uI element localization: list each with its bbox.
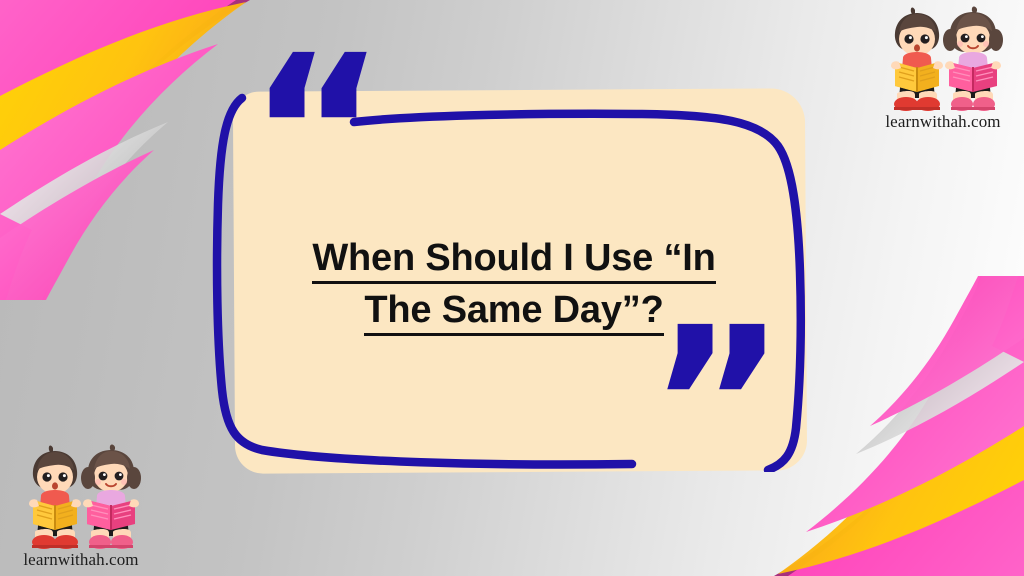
- two-children-reading-books-icon: [15, 444, 147, 552]
- quote-title-line-1: When Should I Use “In: [244, 232, 784, 284]
- quote-title-line-2: The Same Day”?: [244, 284, 784, 336]
- logo-bottom-left[interactable]: learnwithah.com: [8, 444, 154, 570]
- quote-title: When Should I Use “In The Same Day”?: [244, 232, 784, 337]
- two-children-reading-books-icon: [877, 6, 1009, 114]
- quote-title-question-mark: ?: [641, 289, 664, 336]
- slide-canvas: “ ” When Should I Use “In The Same Day”?: [0, 0, 1024, 576]
- logo-text-top-right: learnwithah.com: [870, 112, 1016, 132]
- opening-quote-mark: “: [248, 28, 380, 238]
- logo-text-bottom-left: learnwithah.com: [8, 550, 154, 570]
- logo-top-right[interactable]: learnwithah.com: [870, 6, 1016, 132]
